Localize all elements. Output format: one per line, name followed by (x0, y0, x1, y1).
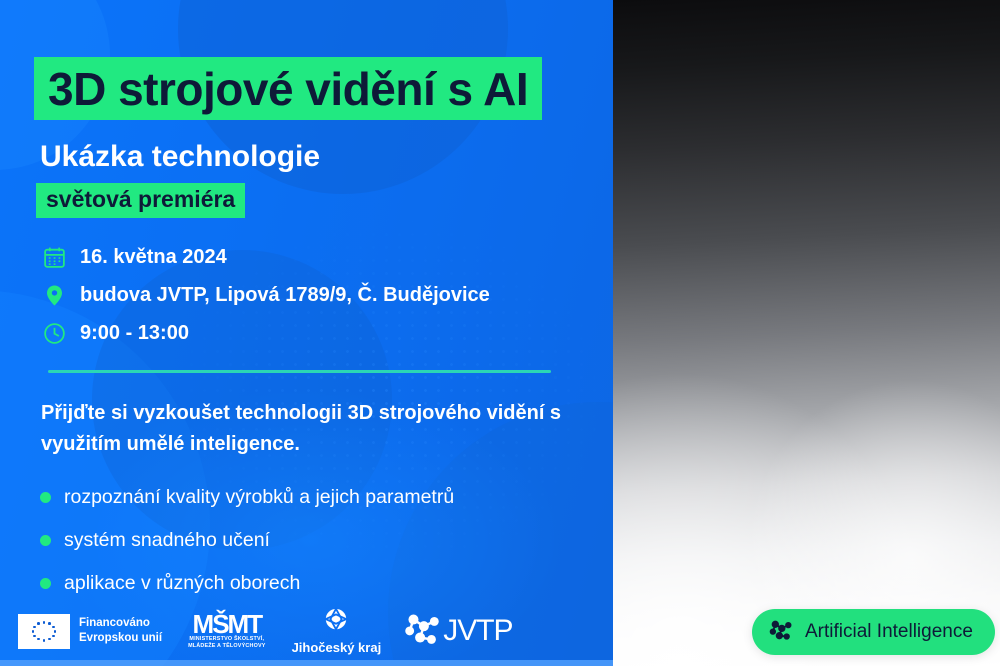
event-date-row: 16. května 2024 (40, 243, 600, 272)
jihocesky-kraj-label: Jihočeský kraj (292, 640, 382, 655)
section-divider (48, 370, 551, 373)
lead-paragraph: Přijďte si vyzkoušet technologii 3D stro… (41, 398, 581, 460)
bullet-dot-icon (40, 578, 51, 589)
sponsor-footer: Financováno Evropskou unií MŠMT MINISTER… (0, 596, 613, 666)
page-title: 3D strojové vidění s AI (34, 57, 542, 120)
location-pin-icon (40, 282, 68, 310)
eu-flag-icon (18, 614, 70, 649)
event-location-text: budova JVTP, Lipová 1789/9, Č. Budějovic… (80, 284, 490, 307)
jihocesky-kraj-icon (321, 607, 351, 638)
event-date-text: 16. května 2024 (80, 246, 227, 269)
event-time-row: 9:00 - 13:00 (40, 319, 600, 348)
premiere-badge: světová premiéra (36, 183, 245, 218)
event-time-text: 9:00 - 13:00 (80, 322, 189, 345)
feature-list: rozpoznání kvality výrobků a jejich para… (40, 480, 600, 609)
poster-canvas: 16. května 2024 budova JVTP, Lipová 1789… (0, 0, 1000, 666)
footer-bottom-bar (0, 660, 613, 666)
ai-badge: Artificial Intelligence (752, 609, 995, 655)
list-item-label: systém snadného učení (64, 529, 270, 552)
event-location-row: budova JVTP, Lipová 1789/9, Č. Budějovic… (40, 281, 600, 310)
subtitle: Ukázka technologie (40, 140, 320, 174)
product-photo (600, 0, 1000, 666)
jvtp-logo: JVTP (403, 611, 512, 652)
list-item: systém snadného učení (40, 523, 600, 558)
ai-molecule-icon (768, 617, 794, 648)
event-details: 16. května 2024 budova JVTP, Lipová 1789… (40, 243, 600, 357)
bullet-dot-icon (40, 535, 51, 546)
list-item-label: rozpoznání kvality výrobků a jejich para… (64, 486, 454, 509)
eu-funding-label: Financováno Evropskou unií (79, 616, 162, 646)
msmt-logo: MŠMT MINISTERSTVO ŠKOLSTVÍ, MLÁDEŽE A TĚ… (188, 612, 265, 650)
msmt-line1: MINISTERSTVO ŠKOLSTVÍ, (188, 636, 265, 643)
jihocesky-kraj-logo: Jihočeský kraj (292, 607, 382, 655)
msmt-line2: MLÁDEŽE A TĚLOVÝCHOVY (188, 643, 265, 650)
list-item: rozpoznání kvality výrobků a jejich para… (40, 480, 600, 515)
page-title-text: 3D strojové vidění s AI (48, 62, 528, 116)
photo-sheen (600, 0, 1000, 666)
msmt-mark: MŠMT (188, 612, 265, 636)
ai-badge-label: Artificial Intelligence (805, 621, 973, 643)
jvtp-molecule-icon (403, 611, 441, 652)
clock-icon (40, 320, 68, 348)
bullet-dot-icon (40, 492, 51, 503)
jvtp-label: JVTP (443, 614, 512, 648)
premiere-badge-text: světová premiéra (46, 186, 235, 212)
list-item-label: aplikace v různých oborech (64, 572, 300, 595)
calendar-icon (40, 244, 68, 272)
